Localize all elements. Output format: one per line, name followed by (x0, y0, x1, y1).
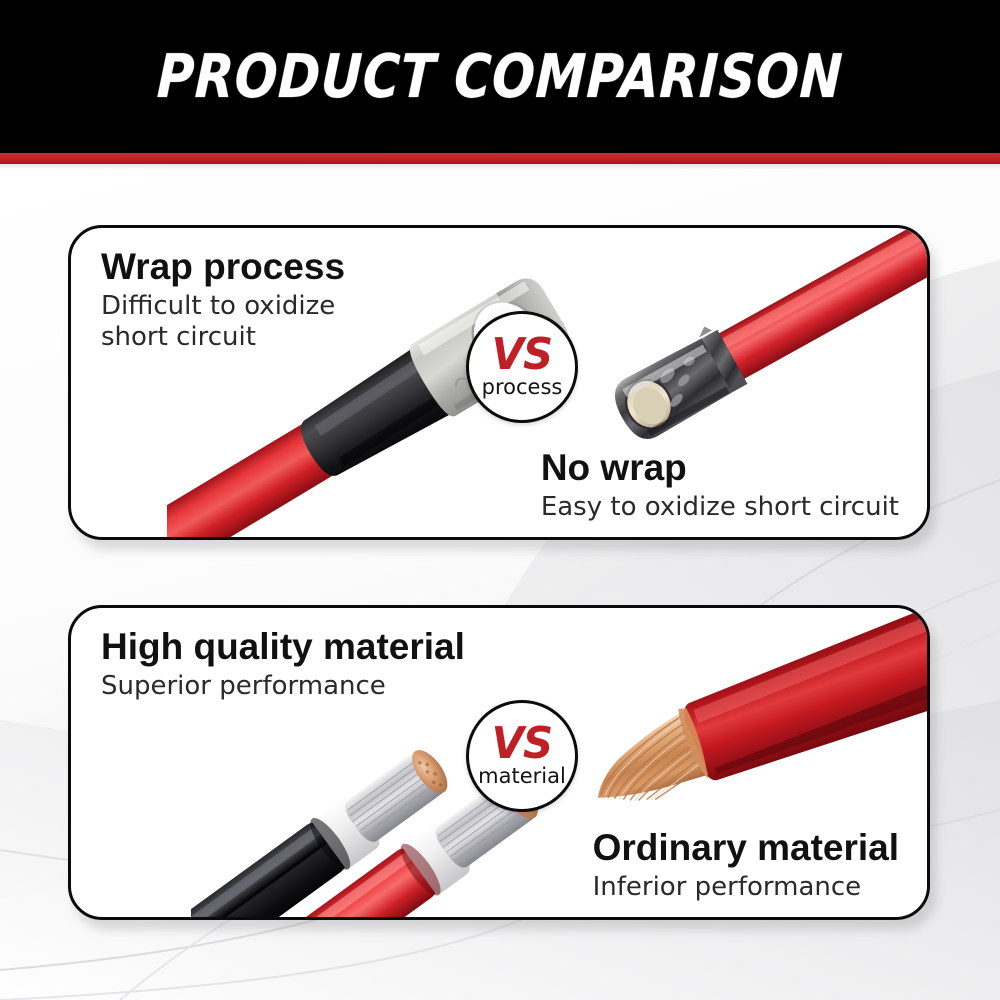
vs-badge-process: VS process (466, 311, 578, 423)
header-red-stripe (0, 153, 1000, 164)
left-heading: High quality material (101, 626, 465, 667)
header-banner: PRODUCT COMPARISON (0, 0, 1000, 153)
left-text-block: Wrap process Difficult to oxidize short … (101, 246, 345, 353)
bare-cable-lug-photo (601, 225, 930, 468)
vs-label: VS (492, 725, 553, 763)
left-subtext-line-1: Superior performance (101, 671, 386, 701)
header-stripe-shadow (0, 164, 1000, 170)
vs-label: VS (492, 336, 553, 374)
left-subtext-line-2: short circuit (101, 322, 345, 353)
left-text-block: High quality material Superior performan… (101, 626, 465, 702)
product-comparison-infographic: PRODUCT COMPARISON Wrap process Difficul… (0, 0, 1000, 1000)
frayed-bare-copper-cable-photo (591, 605, 930, 850)
right-subtext: Inferior performance (593, 872, 899, 903)
left-heading: Wrap process (101, 246, 345, 287)
right-subtext-line-1: Easy to oxidize short circuit (541, 492, 899, 522)
right-text-block: Ordinary material Inferior performance (593, 827, 899, 903)
right-heading: Ordinary material (593, 827, 899, 868)
left-subtext: Superior performance (101, 671, 465, 702)
left-subtext-line-1: Difficult to oxidize (101, 291, 335, 321)
left-subtext: Difficult to oxidize short circuit (101, 291, 345, 352)
vs-topic-label: process (482, 377, 563, 398)
right-text-block: No wrap Easy to oxidize short circuit (541, 447, 899, 523)
right-subtext: Easy to oxidize short circuit (541, 492, 899, 523)
page-title: PRODUCT COMPARISON (156, 42, 845, 112)
right-subtext-line-1: Inferior performance (593, 872, 862, 902)
vs-topic-label: material (478, 766, 566, 787)
right-heading: No wrap (541, 447, 899, 488)
vs-badge-material: VS material (466, 700, 578, 812)
